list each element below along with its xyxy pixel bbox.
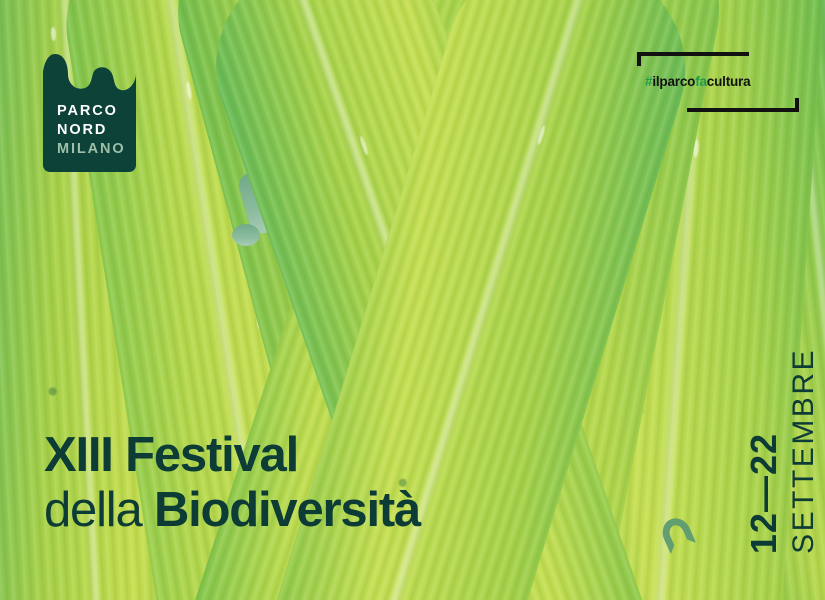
page-title: XIII Festival della Biodiversità [44,428,420,538]
frog-toepad-left-2 [232,224,260,246]
hashtag-part-cultura: cultura [707,74,751,89]
title-word-della: della [44,483,154,537]
bracket-bottom-right-icon [687,98,799,112]
title-word-biodiversita: Biodiversità [154,483,420,537]
logo-line-parco: PARCO [57,102,126,121]
title-line-2: della Biodiversità [44,482,420,538]
hashtag-text[interactable]: #ilparcofacultura [645,74,750,89]
event-month: SETTEMBRE [787,348,821,554]
poster-canvas: PARCO NORD MILANO #ilparcofacultura XIII… [0,0,825,600]
hashtag-part-fa: fa [695,74,707,89]
logo-line-milano: MILANO [57,140,126,159]
logo-line-nord: NORD [57,121,126,140]
event-day-range: 12—22 [743,433,785,554]
event-date-block: SETTEMBRE 12—22 [743,348,821,554]
logo-text-block: PARCO NORD MILANO [57,102,126,159]
title-line-1: XIII Festival [44,428,420,482]
hashtag-part-ilparco: ilparco [652,74,695,89]
hashtag-block: #ilparcofacultura [629,48,799,116]
bracket-top-left-icon [637,52,749,66]
